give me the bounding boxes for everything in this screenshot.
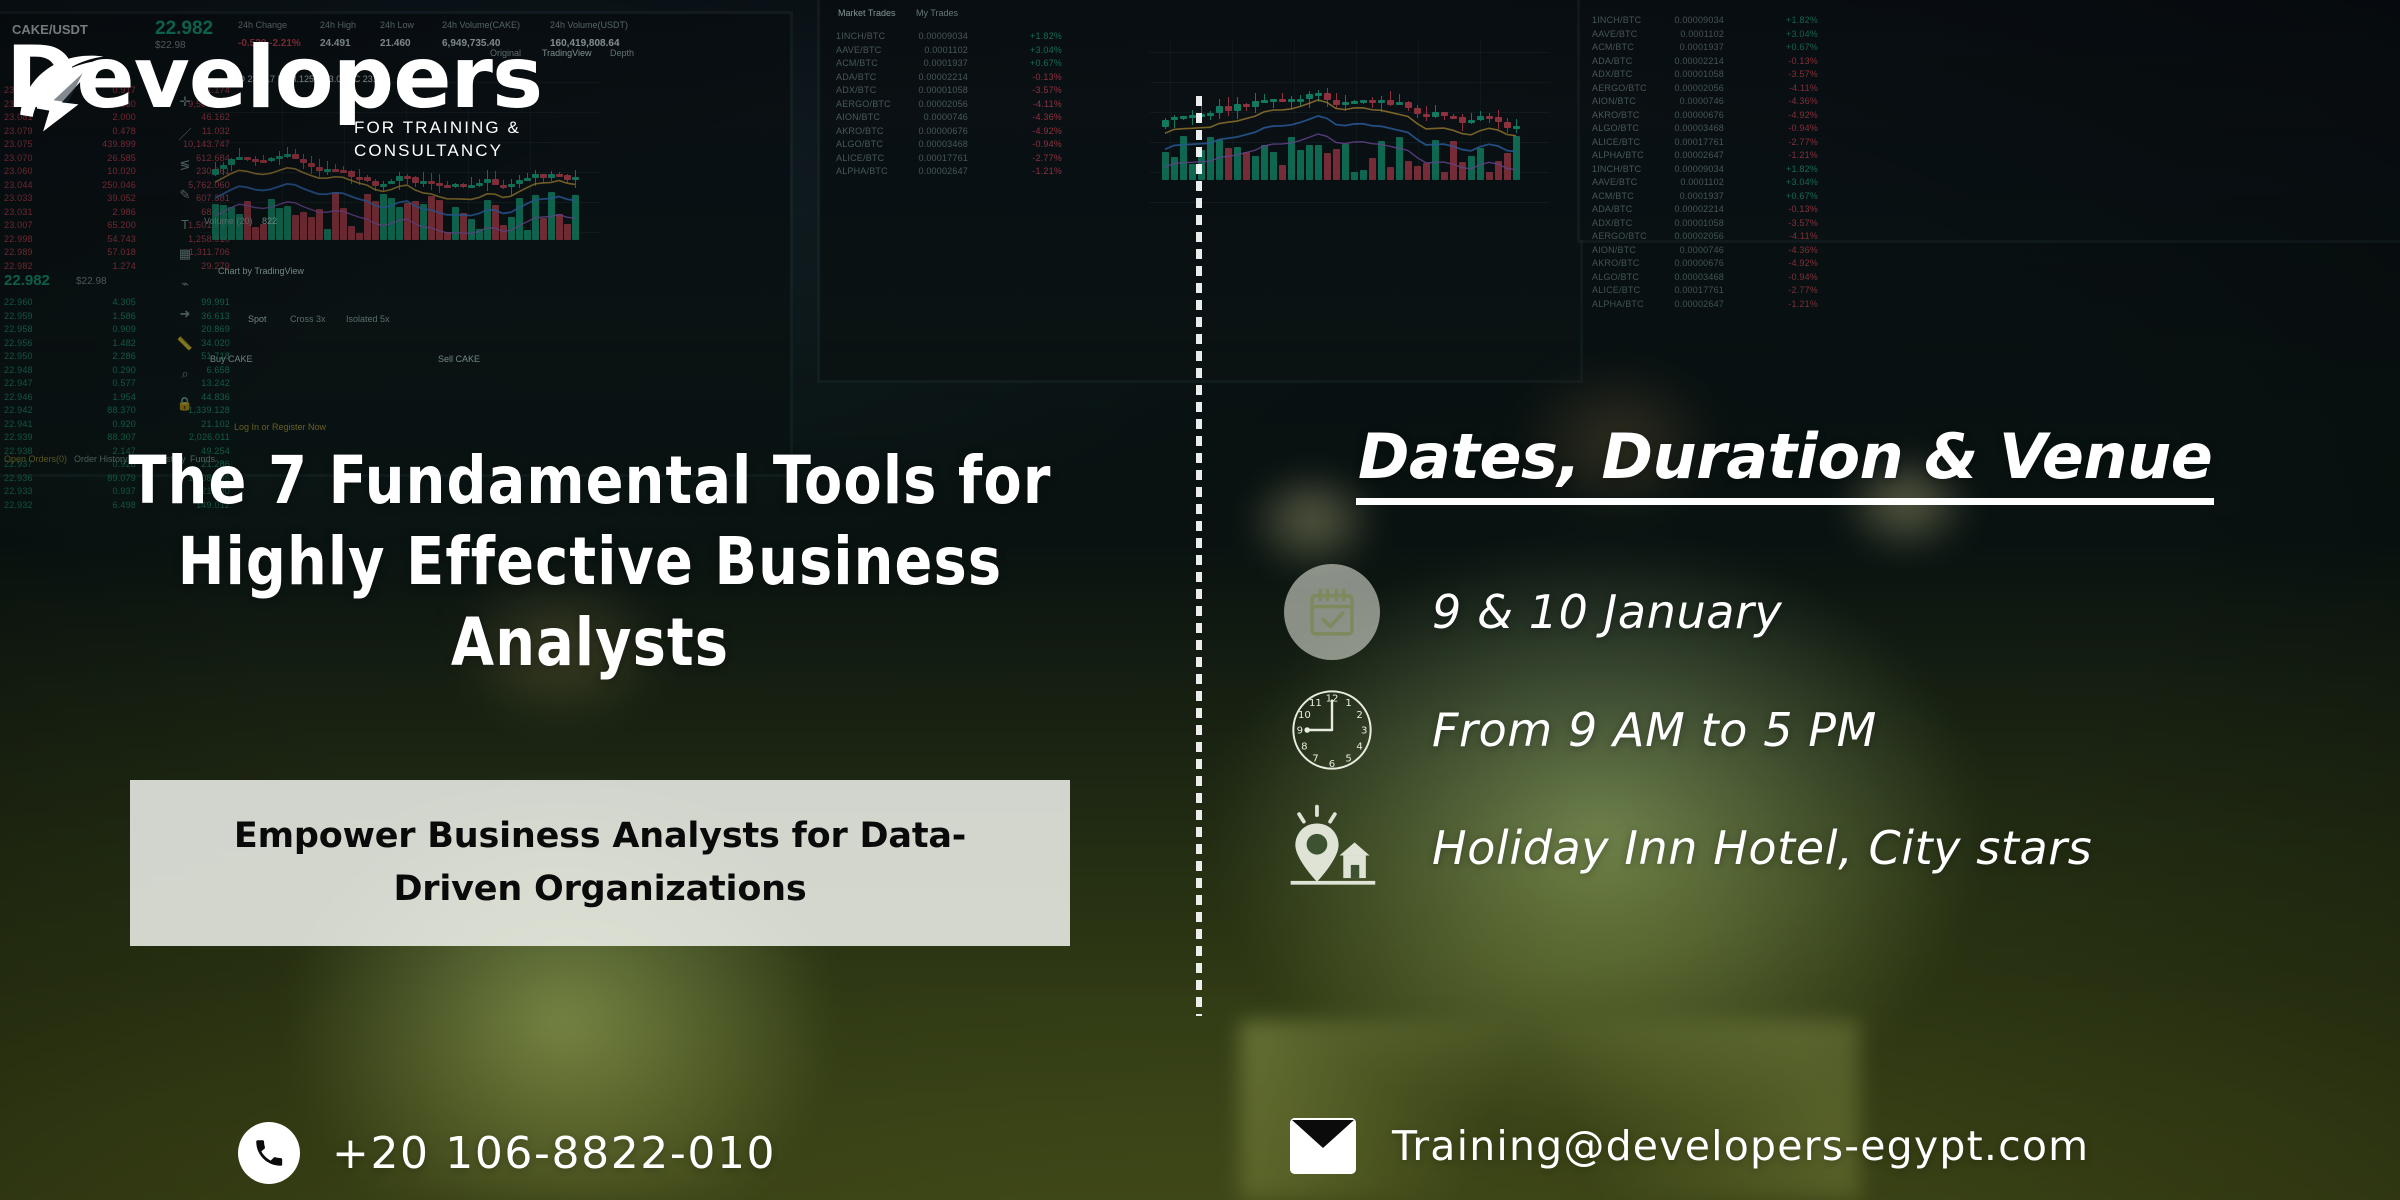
brand-tagline-line2: CONSULTANCY [354, 139, 584, 162]
rocket-swoosh-icon [14, 42, 118, 146]
svg-text:7: 7 [1312, 753, 1318, 764]
event-banner: CAKE/USDT 22.982 $22.98 24h Change -0.52… [0, 0, 2400, 1200]
svg-text:6: 6 [1329, 759, 1335, 770]
right-column: Dates, Duration & Venue [1240, 420, 2400, 907]
svg-text:5: 5 [1345, 753, 1351, 764]
phone-icon [238, 1122, 300, 1184]
brand-tagline: FOR TRAINING & CONSULTANCY [354, 116, 584, 162]
banner-content: Developers FOR TRAINING & CONSULTANCY Th… [0, 0, 2400, 1200]
details-list: 9 & 10 January 1212 345 678 91011 [1240, 553, 2400, 907]
email-address: Training@developers-egypt.com [1392, 1122, 2089, 1170]
location-pin-house-icon [1284, 800, 1380, 896]
detail-text-dates: 9 & 10 January [1432, 585, 1782, 639]
svg-text:4: 4 [1356, 741, 1362, 752]
brand-tagline-line1: FOR TRAINING & [354, 116, 584, 139]
phone-number: +20 106-8822-010 [332, 1128, 776, 1179]
contact-phone[interactable]: +20 106-8822-010 [238, 1122, 776, 1184]
detail-row-dates: 9 & 10 January [1240, 553, 2400, 671]
left-column: The 7 Fundamental Tools for Highly Effec… [0, 440, 1180, 683]
svg-text:2: 2 [1356, 710, 1362, 721]
svg-text:8: 8 [1301, 741, 1307, 752]
detail-row-venue: Holiday Inn Hotel, City stars [1240, 789, 2400, 907]
svg-text:1: 1 [1345, 698, 1351, 709]
page-title: The 7 Fundamental Tools for Highly Effec… [35, 440, 1144, 683]
svg-text:10: 10 [1298, 710, 1311, 721]
dotted-divider [1196, 96, 1202, 1016]
subtitle-text: Empower Business Analysts for Data-Drive… [176, 810, 1024, 916]
svg-text:3: 3 [1361, 726, 1367, 737]
envelope-icon [1290, 1118, 1356, 1174]
calendar-check-icon [1284, 564, 1380, 660]
svg-text:9: 9 [1297, 726, 1303, 737]
subtitle-box: Empower Business Analysts for Data-Drive… [130, 780, 1070, 946]
detail-text-venue: Holiday Inn Hotel, City stars [1432, 821, 2092, 875]
clock-icon: 1212 345 678 91011 [1284, 682, 1380, 778]
svg-text:11: 11 [1309, 698, 1322, 709]
contact-email[interactable]: Training@developers-egypt.com [1290, 1118, 2089, 1174]
detail-text-duration: From 9 AM to 5 PM [1432, 703, 1877, 757]
brand-logo: Developers FOR TRAINING & CONSULTANCY [6, 28, 506, 158]
details-heading: Dates, Duration & Venue [1356, 420, 2214, 505]
detail-row-duration: 1212 345 678 91011 From 9 AM to 5 PM [1240, 671, 2400, 789]
